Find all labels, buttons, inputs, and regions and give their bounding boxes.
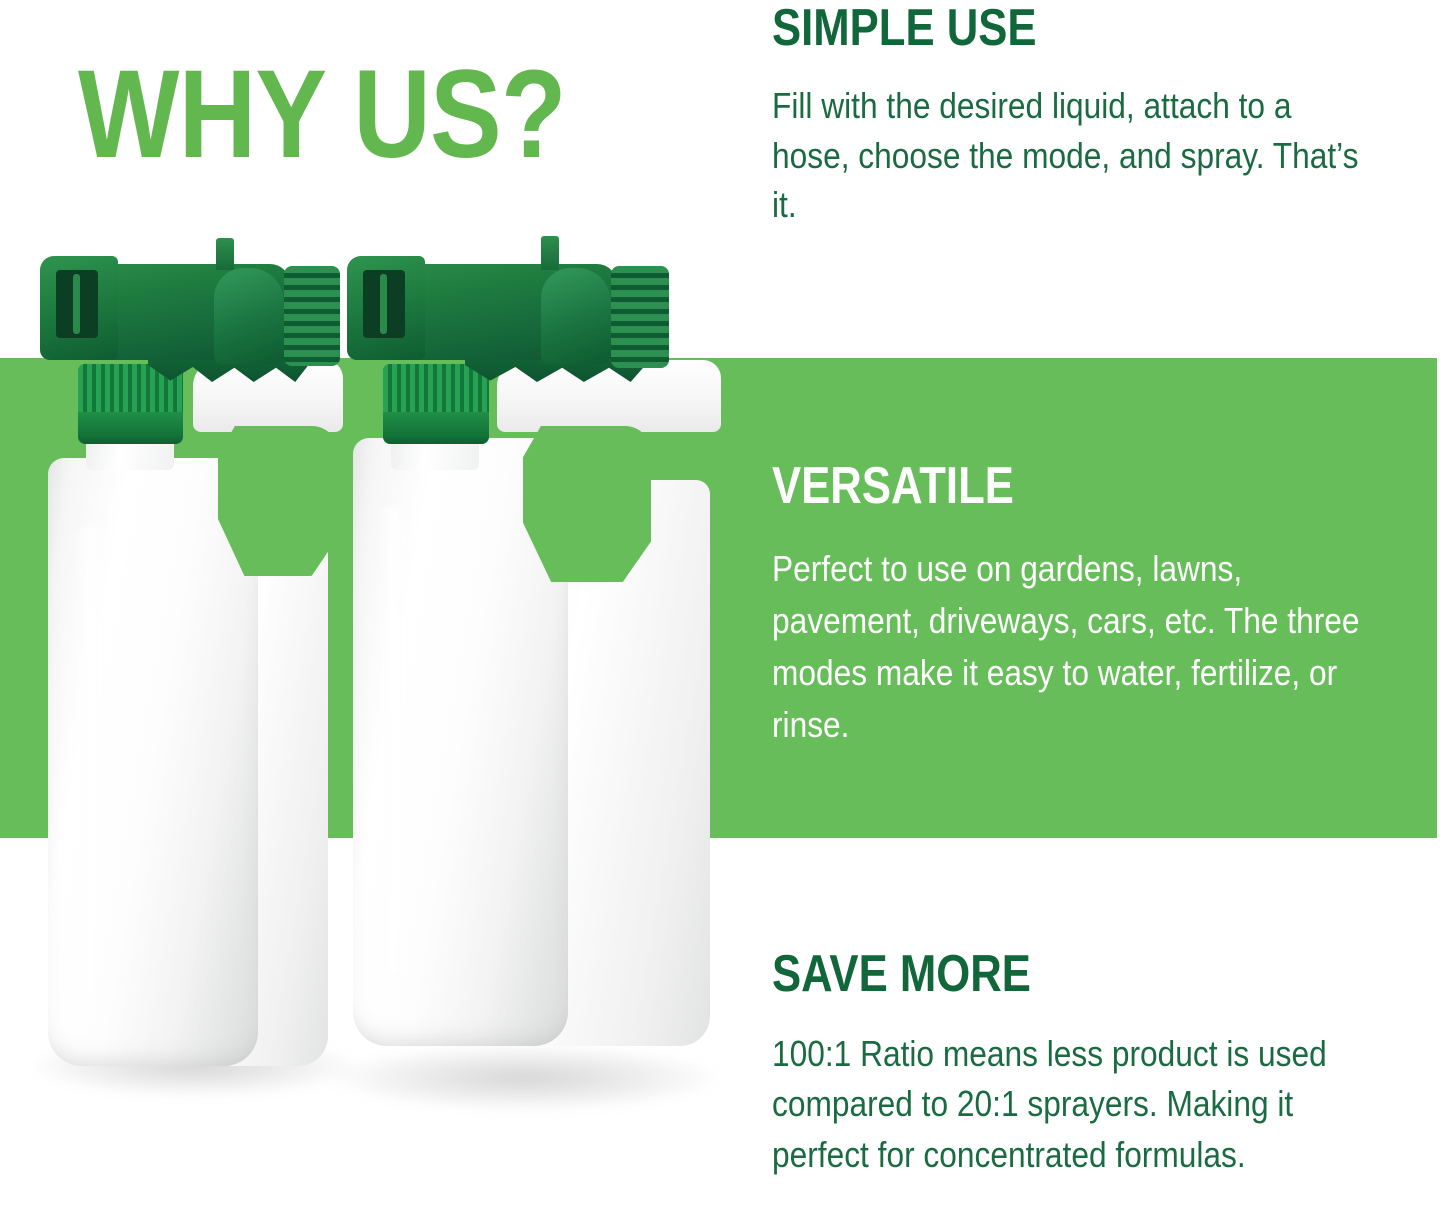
feature-simple-use: SIMPLE USE Fill with the desired liquid,… [772,2,1372,230]
hose-end-sprayer [38,236,358,1066]
sprayer-head-tab [216,238,234,270]
handle-grip-opening [218,426,338,576]
feature-versatile: VERSATILE Perfect to use on gardens, law… [772,460,1372,750]
product-shadow [330,1045,720,1111]
sprayer-head-tab [541,236,559,270]
infographic-canvas: WHY US? [0,0,1445,1211]
sprayer-head [38,236,338,376]
sprayer-flap [214,268,284,364]
sprayer-flap [541,268,611,364]
feature-save-more: SAVE MORE 100:1 Ratio means less product… [772,948,1372,1180]
feature-heading: SIMPLE USE [772,2,1276,55]
cap-ring [383,412,489,444]
bottle-cap [383,364,489,444]
feature-body: 100:1 Ratio means less product is used c… [772,1029,1379,1180]
mode-dial [611,266,669,368]
product-image [0,0,760,1211]
feature-heading: VERSATILE [772,460,1276,513]
sprayer-lever [347,256,425,360]
feature-heading: SAVE MORE [772,948,1276,1001]
mode-dial [284,266,340,366]
bottle-highlight [72,526,108,996]
sprayer-head [345,236,695,376]
hose-end-sprayer [345,236,725,1046]
sprayer-lever [40,256,118,360]
bottle-highlight [375,506,411,976]
feature-body: Fill with the desired liquid, attach to … [772,81,1370,230]
handle-grip-opening [523,426,651,582]
cap-ring [78,412,183,444]
feature-body: Perfect to use on gardens, lawns, paveme… [772,543,1370,750]
